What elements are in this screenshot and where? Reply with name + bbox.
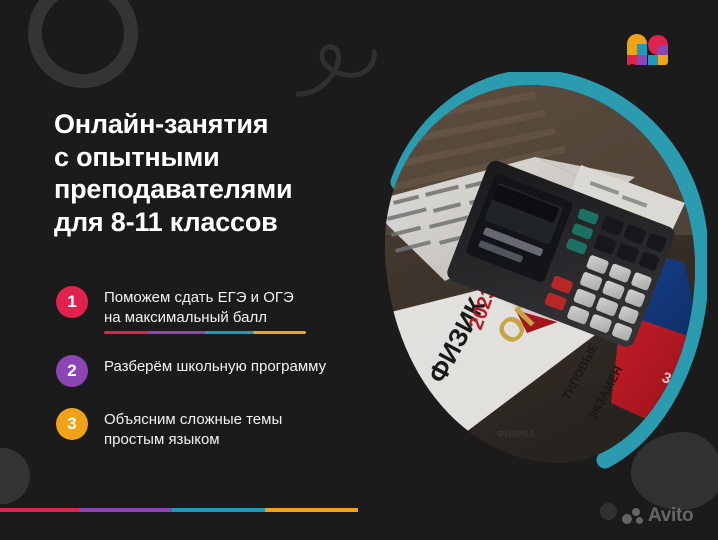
brand-logo-icon	[625, 33, 671, 68]
gradient-underline	[104, 331, 306, 334]
promo-banner: ФИЗИК МАТЕМ ОГЭ 2023 30 36 ТИПОВЫЕ ЭКЗАМ…	[0, 0, 718, 540]
list-badge-2: 2	[56, 355, 88, 387]
list-item-text-3: Объясним сложные темы простым языком	[104, 410, 282, 450]
avito-watermark: Avito	[622, 505, 693, 527]
list-badge-3: 3	[56, 408, 88, 440]
headline-line-3: преподавателями	[54, 173, 384, 206]
benefits-list: 1 Поможем сдать ЕГЭ и ОГЭ на максимальны…	[56, 286, 386, 471]
decorative-ring-top-left	[28, 0, 138, 88]
list-item: 2 Разберём школьную программу	[56, 355, 386, 387]
headline-line-1: Онлайн-занятия	[54, 108, 384, 141]
list-item: 3 Объясним сложные темы простым языком	[56, 408, 386, 450]
list-badge-1: 1	[56, 286, 88, 318]
headline-line-2: с опытными	[54, 141, 384, 174]
list-item-text-1: Поможем сдать ЕГЭ и ОГЭ на максимальный …	[104, 288, 306, 328]
list-item: 1 Поможем сдать ЕГЭ и ОГЭ на максимальны…	[56, 286, 386, 334]
avito-dots-icon	[622, 508, 644, 525]
list-item-text-2: Разберём школьную программу	[104, 357, 326, 377]
headline: Онлайн-занятия с опытными преподавателям…	[54, 108, 384, 239]
avito-watermark-text: Avito	[648, 505, 693, 527]
hero-photo: ФИЗИК МАТЕМ ОГЭ 2023 30 36 ТИПОВЫЕ ЭКЗАМ…	[373, 72, 707, 476]
decorative-circle-bottom-left	[0, 448, 30, 504]
bottom-color-bar	[0, 508, 358, 512]
decorative-squiggle-icon	[296, 38, 382, 98]
decorative-dot-bottom-right	[600, 503, 617, 520]
headline-line-4: для 8-11 классов	[54, 206, 384, 239]
